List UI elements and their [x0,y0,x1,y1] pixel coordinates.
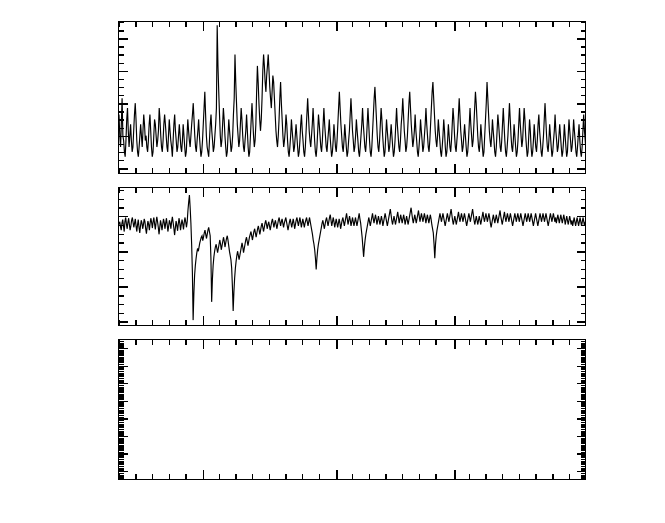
trace-dst [119,188,586,325]
spectrogram-proton-flux [119,340,586,479]
figure-canvas [0,0,665,523]
trace-kp [119,22,586,173]
